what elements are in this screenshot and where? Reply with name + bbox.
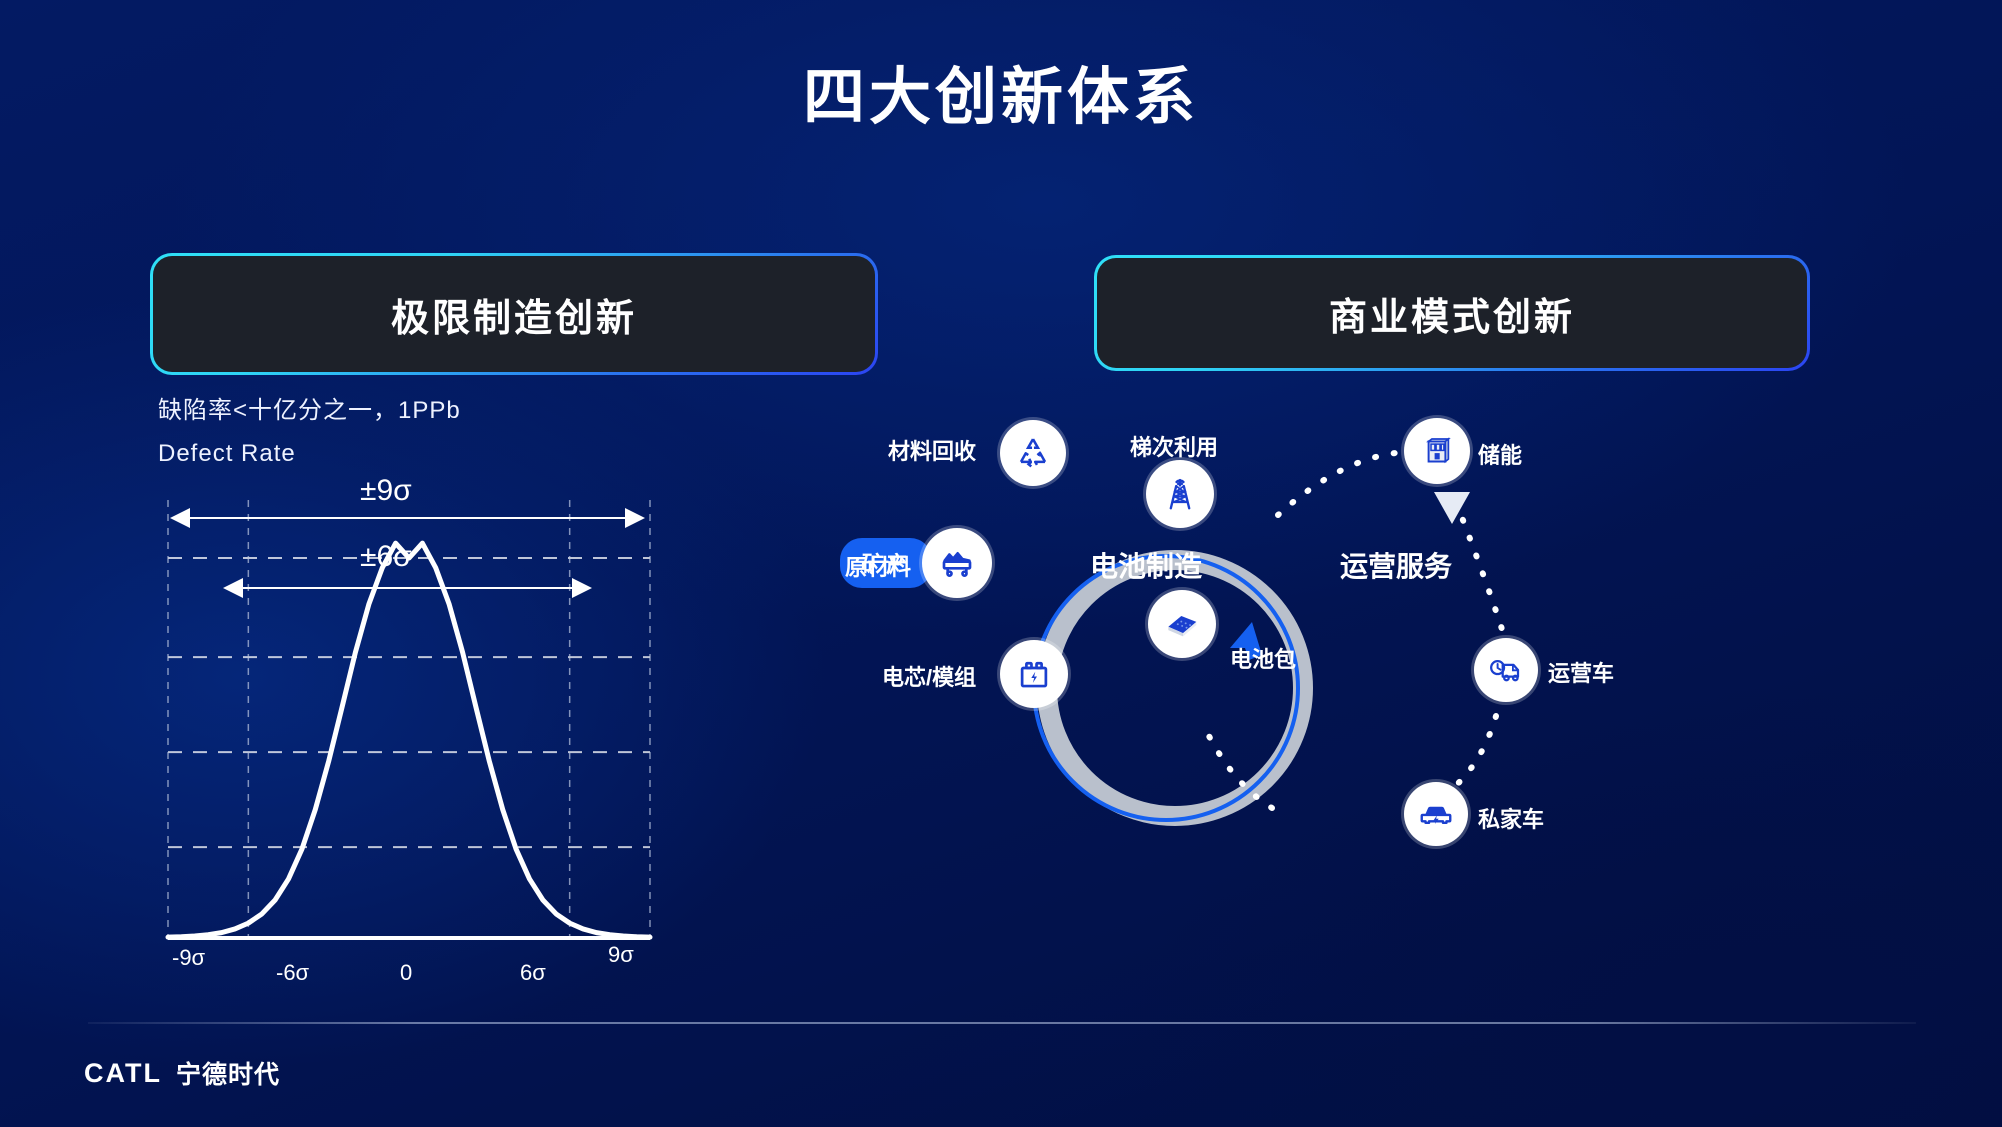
center-label-battery-manufacturing: 电池制造 [1090,545,1202,585]
panel-card-right[interactable]: 商业模式创新 [1094,255,1810,371]
electric-car-icon [1417,795,1455,833]
xtick-zero: 0 [400,960,412,986]
defect-rate-cn-text: 缺陷率<十亿分之一，1PPb [158,390,461,425]
xtick-minus-9-sigma: -9σ [172,945,205,971]
logo-latin: CATL [84,1058,162,1089]
defect-distribution-chart [150,470,850,990]
logo-chinese: 宁德时代 [176,1055,280,1091]
annotation-6-sigma: ±6σ [360,540,412,574]
panel-card-right-inner: 商业模式创新 [1097,258,1807,368]
node-icon-operating-vehicle[interactable] [1474,638,1538,702]
recycle-icon [1014,434,1052,472]
node-icon-cascade-utilization[interactable] [1146,460,1214,528]
panel-right-title: 商业模式创新 [1329,286,1575,341]
xtick-6-sigma: 6σ [520,960,546,986]
chart-curve-line [168,543,650,937]
node-label-battery-pack: 电池包 [1230,642,1296,674]
node-label-raw-material: 原材料 [845,550,911,582]
center-label-operation-service: 运营服务 [1340,545,1452,585]
storage-cabinet-icon [1419,433,1455,469]
node-icon-private-car[interactable] [1404,782,1468,846]
battery-pack-icon [1161,603,1203,645]
node-label-material-recycling: 材料回收 [888,434,976,466]
chart-svg [150,470,850,990]
node-icon-raw-material[interactable] [922,528,992,598]
node-label-operating-vehicle: 运营车 [1548,656,1614,688]
chart-gridlines-horizontal [168,558,650,938]
dotted-arc-tower-storage [1278,452,1422,515]
node-icon-cell-module[interactable] [1000,640,1068,708]
annotation-9-sigma: ±9σ [360,474,412,508]
footer-divider [88,1022,1916,1024]
tower-icon [1161,475,1199,513]
xtick-minus-6-sigma: -6σ [276,960,309,986]
xtick-9-sigma: 9σ [608,942,634,968]
panel-left-title: 极限制造创新 [391,287,637,342]
node-label-cascade-utilization: 梯次利用 [1130,430,1218,462]
delivery-truck-clock-icon [1488,652,1524,688]
node-icon-material-recycling[interactable] [1000,420,1066,486]
node-label-private-car: 私家车 [1478,802,1544,834]
battery-cell-icon [1015,655,1053,693]
mining-cart-icon [937,543,977,583]
defect-rate-en-text: Defect Rate [158,440,296,468]
business-cycle-diagram: 矿产 电池制造 运营服务 材料回收 梯次利用 [900,410,1980,970]
page-title: 四大创新体系 [0,46,2002,136]
node-icon-energy-storage[interactable] [1404,418,1470,484]
node-label-cell-module: 电芯/模组 [882,660,976,692]
catl-logo: CATL 宁德时代 [84,1055,280,1091]
node-label-energy-storage: 储能 [1478,438,1522,470]
panel-card-left-inner: 极限制造创新 [153,256,875,372]
dotted-arc-storage-truck [1456,502,1506,642]
node-icon-battery-pack[interactable] [1148,590,1216,658]
panel-card-left[interactable]: 极限制造创新 [150,253,878,375]
